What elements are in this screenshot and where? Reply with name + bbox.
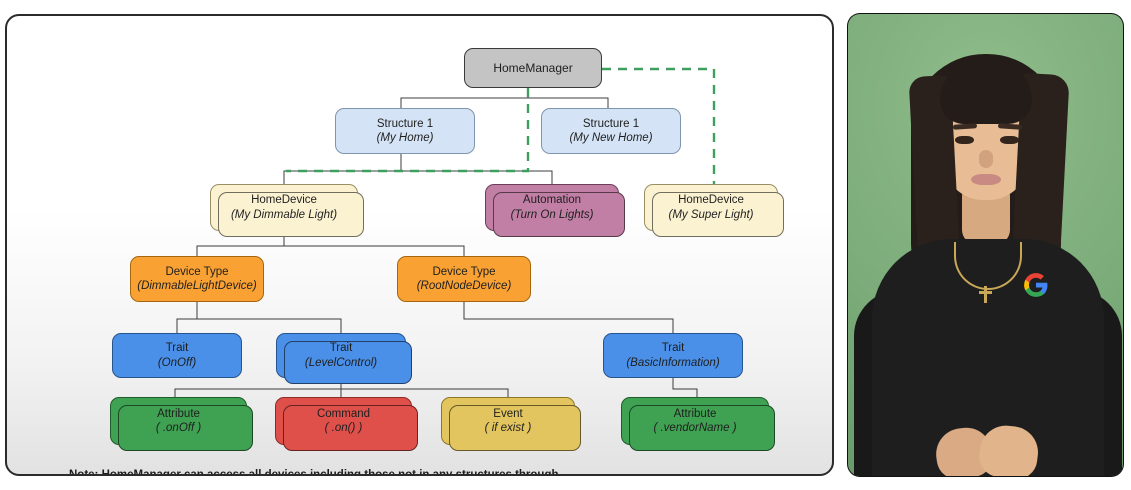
node-trait-onoff[interactable]: Trait (OnOff) xyxy=(112,333,242,378)
presenter-nose xyxy=(979,150,993,168)
presenter-cross-pendant xyxy=(984,286,987,303)
node-home-manager[interactable]: HomeManager xyxy=(464,48,602,88)
node-title: Command xyxy=(317,407,370,421)
presenter-cross-pendant-bar xyxy=(979,291,992,294)
node-title: Structure 1 xyxy=(583,117,639,131)
node-subtitle: ( .on() ) xyxy=(325,421,363,435)
presenter-eye-right xyxy=(1000,136,1019,144)
node-title: Automation xyxy=(523,193,581,207)
node-trait-levelcontrol[interactable]: Trait (LevelControl) xyxy=(276,333,406,378)
node-subtitle: (OnOff) xyxy=(158,356,196,370)
node-attribute-onoff[interactable]: Attribute ( .onOff ) xyxy=(110,397,247,445)
node-title: Attribute xyxy=(157,407,200,421)
presenter-video-panel[interactable] xyxy=(848,14,1123,476)
slide-stage: HomeManager Structure 1 (My Home) Struct… xyxy=(0,0,1131,490)
google-g-icon xyxy=(1023,272,1049,298)
node-subtitle: (My Dimmable Light) xyxy=(231,208,337,222)
presenter-hair-front xyxy=(940,62,1032,124)
node-devicetype-rootnodedevice[interactable]: Device Type (RootNodeDevice) xyxy=(397,256,531,302)
node-title: HomeDevice xyxy=(678,193,744,207)
node-title: Event xyxy=(493,407,522,421)
node-subtitle: (BasicInformation) xyxy=(626,356,719,370)
node-subtitle: (My New Home) xyxy=(569,131,652,145)
node-title: Trait xyxy=(662,341,685,355)
node-subtitle: (LevelControl) xyxy=(305,356,377,370)
dashed-line-legend-swatch xyxy=(603,474,673,476)
node-structure-1-my-new-home[interactable]: Structure 1 (My New Home) xyxy=(541,108,681,154)
node-title: Structure 1 xyxy=(377,117,433,131)
node-subtitle: ( if exist ) xyxy=(485,421,532,435)
presenter-figure xyxy=(848,14,1123,476)
node-title: Device Type xyxy=(432,265,495,279)
node-subtitle: (DimmableLightDevice) xyxy=(137,279,257,293)
node-automation-turn-on-lights[interactable]: Automation (Turn On Lights) xyxy=(485,184,619,231)
node-title: HomeDevice xyxy=(251,193,317,207)
node-homedevice-my-super-light[interactable]: HomeDevice (My Super Light) xyxy=(644,184,778,231)
node-title: Trait xyxy=(166,341,189,355)
node-subtitle: (My Home) xyxy=(377,131,434,145)
node-title: HomeManager xyxy=(493,61,572,76)
node-structure-1-my-home[interactable]: Structure 1 (My Home) xyxy=(335,108,475,154)
node-subtitle: (Turn On Lights) xyxy=(511,208,594,222)
node-subtitle: (RootNodeDevice) xyxy=(417,279,512,293)
presenter-eye-left xyxy=(955,136,974,144)
footnote-text: Note: HomeManager can access all devices… xyxy=(69,469,559,476)
node-subtitle: ( .onOff ) xyxy=(156,421,201,435)
node-attribute-vendorname[interactable]: Attribute ( .vendorName ) xyxy=(621,397,769,445)
node-devicetype-dimmablelightdevice[interactable]: Device Type (DimmableLightDevice) xyxy=(130,256,264,302)
presenter-mouth xyxy=(971,174,1001,185)
diagram-slide-panel: HomeManager Structure 1 (My Home) Struct… xyxy=(5,14,834,476)
node-homedevice-my-dimmable-light[interactable]: HomeDevice (My Dimmable Light) xyxy=(210,184,358,231)
node-title: Device Type xyxy=(165,265,228,279)
node-event-if-exist[interactable]: Event ( if exist ) xyxy=(441,397,575,445)
diagram-footnote: Note: HomeManager can access all devices… xyxy=(69,464,769,476)
node-subtitle: ( .vendorName ) xyxy=(653,421,736,435)
node-trait-basicinformation[interactable]: Trait (BasicInformation) xyxy=(603,333,743,378)
node-title: Attribute xyxy=(674,407,717,421)
node-subtitle: (My Super Light) xyxy=(668,208,753,222)
node-title: Trait xyxy=(330,341,353,355)
diagram-canvas: HomeManager Structure 1 (My Home) Struct… xyxy=(7,16,832,474)
node-command-on[interactable]: Command ( .on() ) xyxy=(275,397,412,445)
